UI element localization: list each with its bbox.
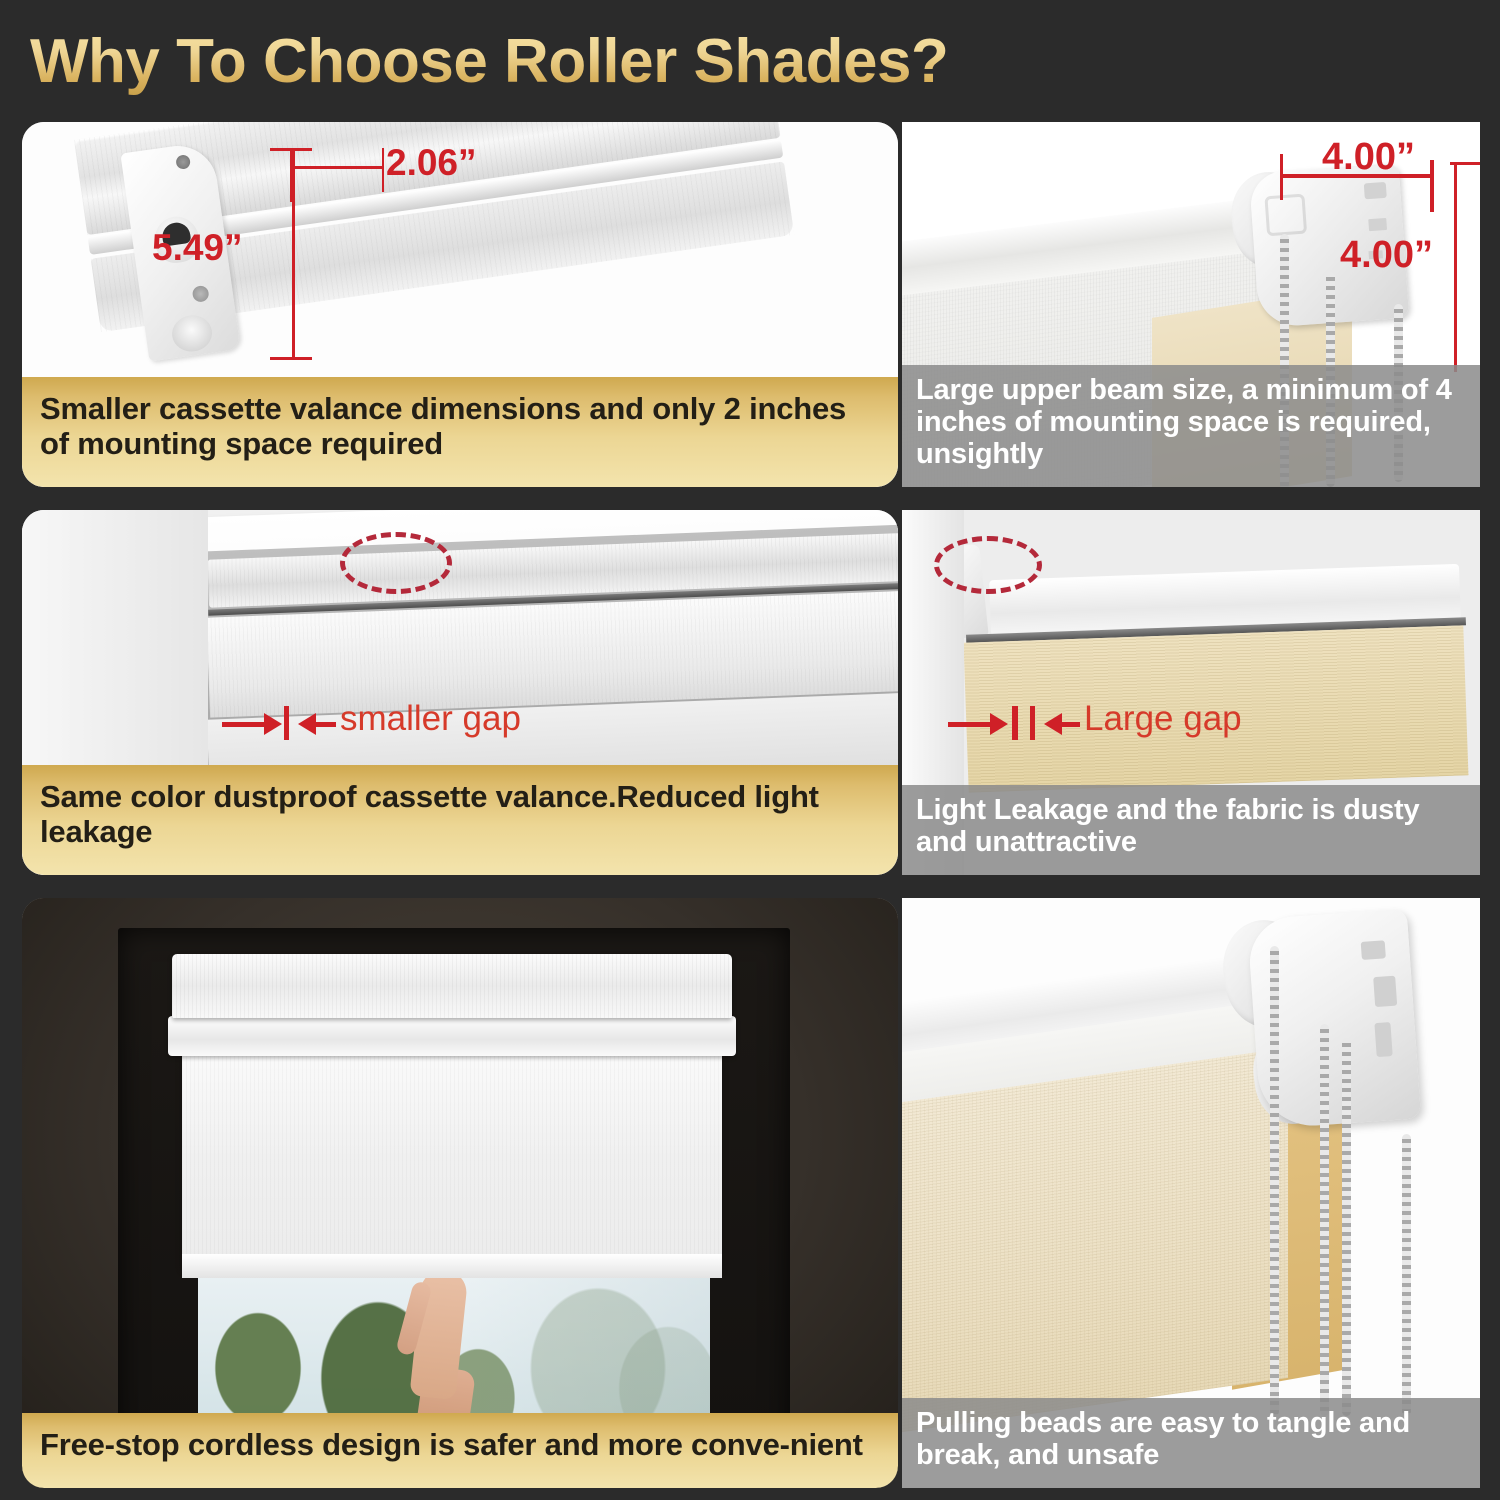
bead-chain <box>1270 946 1279 1416</box>
valance-front-bar <box>168 1016 736 1056</box>
panel-caption: Pulling beads are easy to tangle and bre… <box>902 1398 1480 1488</box>
gap-marker <box>1030 706 1035 740</box>
caption-text: Light Leakage and the fabric is dusty an… <box>916 795 1466 859</box>
bead-chain <box>1342 1038 1351 1416</box>
caption-text: Free-stop cordless design is safer and m… <box>40 1427 863 1462</box>
gap-arrow-right-head <box>298 713 316 735</box>
gap-arrow-left-head <box>264 713 282 735</box>
highlight-ellipse <box>340 532 452 594</box>
cordless-window-photo <box>22 898 898 1488</box>
panel-large-beam: 4.00” 4.00” Large upper beam size, a min… <box>902 122 1480 487</box>
highlight-ellipse <box>934 536 1042 594</box>
shade-fabric <box>182 1054 722 1268</box>
caption-text: Pulling beads are easy to tangle and bre… <box>916 1408 1466 1472</box>
width-dimension-label: 4.00” <box>1322 136 1415 179</box>
panel-dustproof-valance: smaller gap Same color dustproof cassett… <box>22 510 898 875</box>
panel-pulling-beads: Pulling beads are easy to tangle and bre… <box>902 898 1480 1488</box>
caption-text: Smaller cassette valance dimensions and … <box>40 391 880 461</box>
panel-caption: Same color dustproof cassette valance.Re… <box>22 765 898 875</box>
dimension-line-height <box>1454 162 1457 372</box>
gap-arrow-right-shaft <box>316 722 336 727</box>
dimension-tick-right <box>1430 160 1434 212</box>
dimension-tick-right <box>382 148 384 192</box>
gap-arrow-right-head <box>1044 713 1062 735</box>
height-dimension-label: 4.00” <box>1340 234 1433 277</box>
gap-label: smaller gap <box>340 699 521 739</box>
gap-arrow-left-head <box>990 713 1008 735</box>
gap-marker <box>1012 706 1018 740</box>
panel-light-leakage: Large gap Light Leakage and the fabric i… <box>902 510 1480 875</box>
dimension-cap-bottom <box>270 357 312 360</box>
panel-cassette-dimensions: 2.06” 5.49” Smaller cassette valance dim… <box>22 122 898 487</box>
gap-arrow-left-shaft <box>222 722 266 727</box>
panel-caption: Smaller cassette valance dimensions and … <box>22 377 898 487</box>
panel-caption: Free-stop cordless design is safer and m… <box>22 1413 898 1488</box>
bracket-screw <box>170 313 215 354</box>
width-dimension-label: 2.06” <box>386 142 477 184</box>
caption-text: Large upper beam size, a minimum of 4 in… <box>916 375 1466 471</box>
gap-arrow-right-shaft <box>1062 722 1080 727</box>
dimension-line-width <box>290 166 384 169</box>
gap-marker <box>284 706 289 740</box>
caption-text: Same color dustproof cassette valance.Re… <box>40 779 880 849</box>
shade-fabric-beige <box>902 1048 1288 1434</box>
panel-cordless-design: Free-stop cordless design is safer and m… <box>22 898 898 1488</box>
comparison-grid: 2.06” 5.49” Smaller cassette valance dim… <box>0 122 1500 1500</box>
header: Why To Choose Roller Shades? <box>0 0 1500 122</box>
gap-label: Large gap <box>1084 699 1242 739</box>
bead-chain <box>1402 1134 1411 1416</box>
gap-arrow-left-shaft <box>948 722 992 727</box>
panel-caption: Large upper beam size, a minimum of 4 in… <box>902 365 1480 487</box>
page-title: Why To Choose Roller Shades? <box>30 26 948 97</box>
height-dimension-label: 5.49” <box>152 227 243 269</box>
shade-hem-bar <box>182 1254 722 1278</box>
dimension-cap-top <box>270 148 312 151</box>
dimension-line-height <box>292 148 295 360</box>
panel-caption: Light Leakage and the fabric is dusty an… <box>902 785 1480 875</box>
cassette-valance <box>172 954 732 1018</box>
bead-chain <box>1320 1024 1329 1416</box>
